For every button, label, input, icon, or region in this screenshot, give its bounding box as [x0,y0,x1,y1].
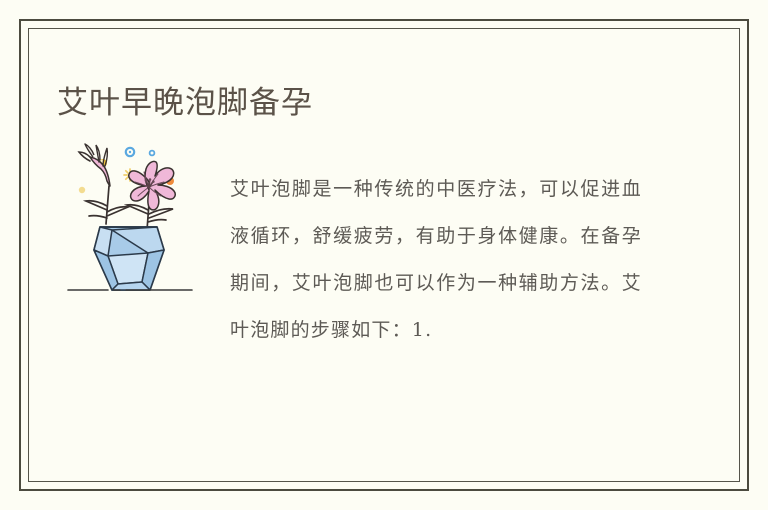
flower-bloom-right [129,161,175,210]
article-body: 艾叶泡脚是一种传统的中医疗法，可以促进血液循环，舒缓疲劳，有助于身体健康。在备孕… [230,166,642,354]
page-title: 艾叶早晚泡脚备孕 [57,83,313,123]
geometric-vase [94,227,164,290]
flower-bud-left [79,144,110,186]
article-card: 艾叶早晚泡脚备孕 [0,0,768,510]
flower-vase-illustration [60,138,210,318]
